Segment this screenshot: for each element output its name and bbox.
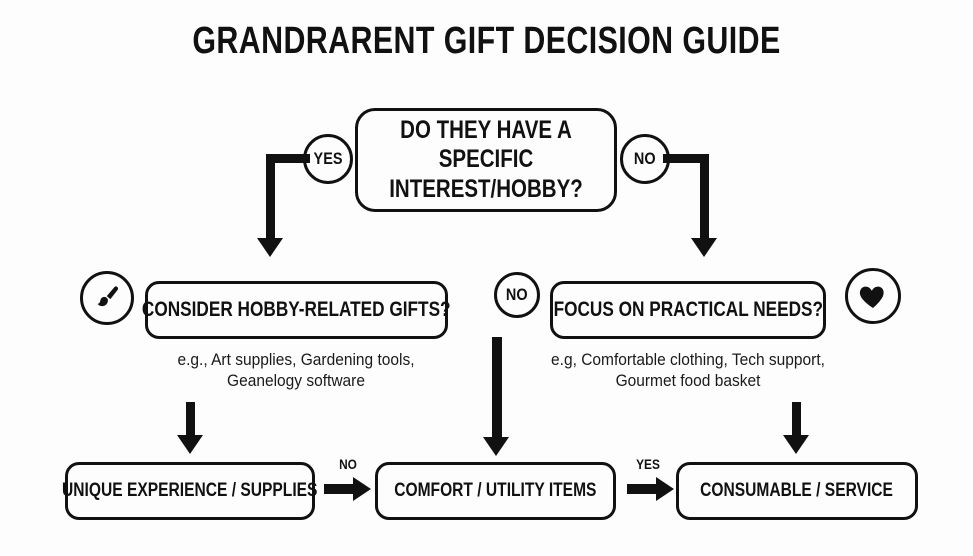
decision-node-hobby-gifts-label: CONSIDER HOBBY-RELATED GIFTS? xyxy=(142,298,451,323)
decision-node-hobby-gifts[interactable]: CONSIDER HOBBY-RELATED GIFTS? xyxy=(145,281,448,339)
connector-yes-vertical xyxy=(266,154,275,241)
connector-hobby-to-unique-arrowhead xyxy=(177,435,203,454)
connector-comfort-to-consumable-line xyxy=(627,484,659,494)
connector-midno-to-comfort-arrowhead xyxy=(483,437,509,456)
outcome-node-consumable-service-label: CONSUMABLE / SERVICE xyxy=(701,480,894,502)
page-title: GRANDRARENT GIFT DECISION GUIDE xyxy=(97,20,875,63)
caption-hobby-examples-line1: e.g., Art supplies, Gardening tools, xyxy=(136,350,456,371)
edge-label-comfort-to-consumable: YES xyxy=(628,456,667,472)
decision-node-practical-needs[interactable]: FOCUS ON PRACTICAL NEEDS? xyxy=(550,281,826,339)
connector-practical-to-consumable-arrowhead xyxy=(783,435,809,454)
decision-node-practical-needs-label: FOCUS ON PRACTICAL NEEDS? xyxy=(553,298,822,323)
connector-hobby-to-unique-line xyxy=(186,402,195,438)
connector-no-arrowhead xyxy=(691,238,717,257)
decision-node-specific-interest[interactable]: DO THEY HAVE A SPECIFIC INTEREST/HOBBY? xyxy=(355,108,617,212)
connector-comfort-to-consumable-arrowhead xyxy=(656,477,674,501)
badge-mid-no-label: NO xyxy=(506,285,528,305)
badge-mid-no[interactable]: NO xyxy=(494,272,540,318)
caption-practical-examples-line1: e.g, Comfortable clothing, Tech support, xyxy=(528,350,848,371)
caption-practical-examples: e.g, Comfortable clothing, Tech support,… xyxy=(528,350,848,392)
connector-yes-arrowhead xyxy=(257,238,283,257)
decision-node-specific-interest-label: DO THEY HAVE A SPECIFIC INTEREST/HOBBY? xyxy=(381,116,591,205)
badge-root-yes-label: YES xyxy=(314,149,343,169)
connector-no-vertical xyxy=(700,154,709,241)
outcome-node-comfort-utility[interactable]: COMFORT / UTILITY ITEMS xyxy=(375,462,616,520)
connector-midno-to-comfort-line xyxy=(492,337,502,441)
edge-label-unique-to-comfort: NO xyxy=(328,456,367,472)
heart-icon xyxy=(845,268,901,324)
caption-practical-examples-line2: Gourmet food basket xyxy=(528,371,848,392)
connector-unique-to-comfort-line xyxy=(324,484,356,494)
paintbrush-icon xyxy=(80,271,134,325)
connector-practical-to-consumable-line xyxy=(792,402,801,438)
outcome-node-unique-experience[interactable]: UNIQUE EXPERIENCE / SUPPLIES xyxy=(65,462,315,520)
badge-root-yes[interactable]: YES xyxy=(303,134,353,184)
flowchart-canvas: GRANDRARENT GIFT DECISION GUIDE DO THEY … xyxy=(0,0,973,556)
caption-hobby-examples: e.g., Art supplies, Gardening tools, Gea… xyxy=(136,350,456,392)
outcome-node-consumable-service[interactable]: CONSUMABLE / SERVICE xyxy=(676,462,918,520)
outcome-node-unique-experience-label: UNIQUE EXPERIENCE / SUPPLIES xyxy=(62,480,317,502)
outcome-node-comfort-utility-label: COMFORT / UTILITY ITEMS xyxy=(394,480,596,502)
caption-hobby-examples-line2: Geanelogy software xyxy=(136,371,456,392)
badge-root-no-label: NO xyxy=(634,149,656,169)
connector-unique-to-comfort-arrowhead xyxy=(353,477,371,501)
